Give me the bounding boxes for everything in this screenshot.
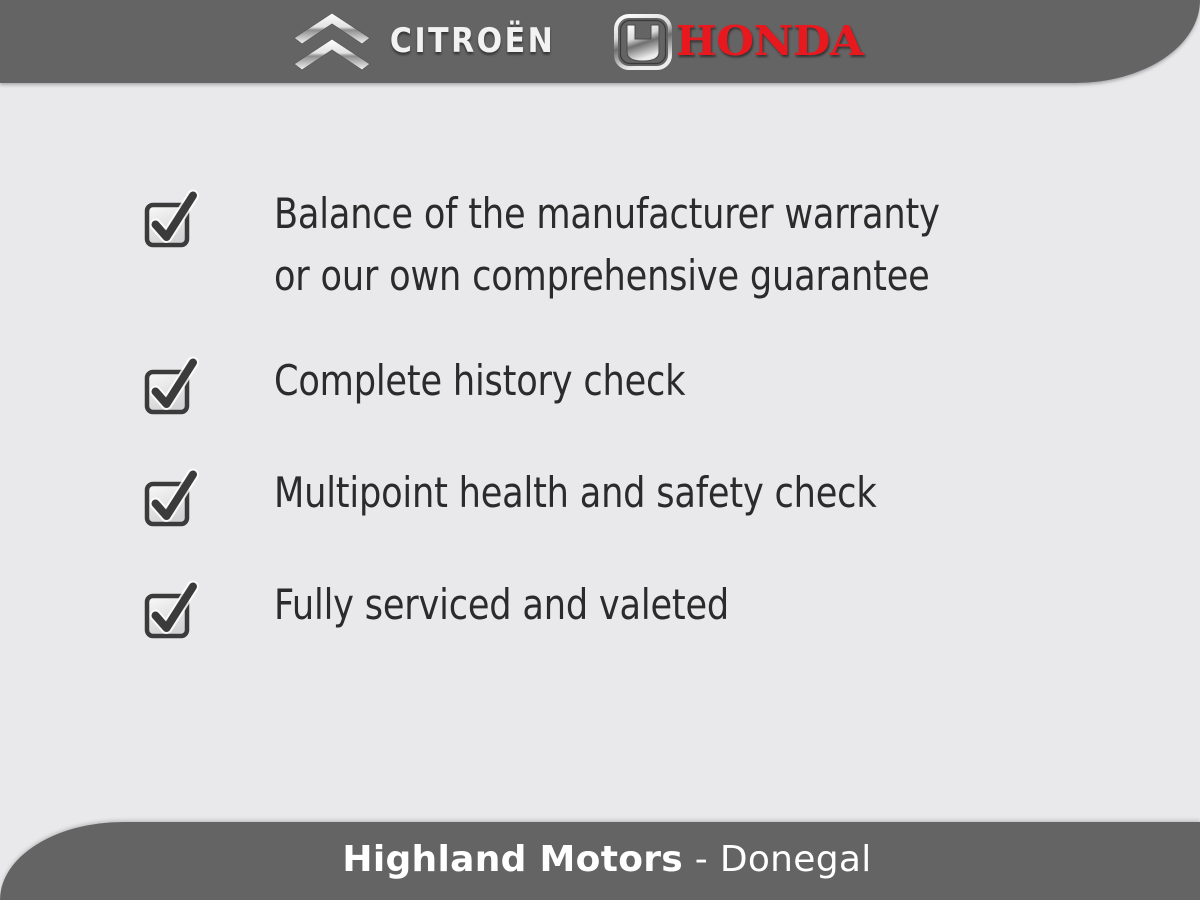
citroen-wordmark: CITROËN bbox=[390, 25, 555, 59]
honda-logo: HONDA bbox=[613, 9, 858, 75]
checkbox-checked-icon bbox=[140, 580, 202, 642]
honda-h-emblem-icon bbox=[613, 12, 673, 72]
checkbox-checked-icon bbox=[140, 356, 202, 418]
brand-logo-row: CITROËN HON bbox=[0, 0, 1150, 83]
list-item-label: Multipoint health and safety check bbox=[274, 462, 876, 524]
list-item-label: Balance of the manufacturer warranty or … bbox=[274, 183, 940, 306]
brand-header-bar: CITROËN HON bbox=[0, 0, 1200, 83]
list-item: Fully serviced and valeted bbox=[140, 574, 1140, 642]
list-item: Balance of the manufacturer warranty or … bbox=[140, 183, 1140, 306]
list-item-label: Fully serviced and valeted bbox=[274, 574, 729, 636]
dealer-separator: - bbox=[683, 839, 720, 880]
citroen-chevrons-icon bbox=[292, 11, 372, 73]
dealer-name: Highland Motors bbox=[342, 839, 683, 880]
checkbox-checked-icon bbox=[140, 468, 202, 530]
citroen-logo: CITROËN bbox=[292, 9, 555, 75]
checkbox-checked-icon bbox=[140, 189, 202, 251]
dealer-name-line: Highland Motors - Donegal bbox=[342, 842, 871, 878]
feature-list: Balance of the manufacturer warranty or … bbox=[140, 183, 1140, 642]
list-item-label: Complete history check bbox=[274, 350, 685, 412]
list-item: Multipoint health and safety check bbox=[140, 462, 1140, 530]
content-area: Balance of the manufacturer warranty or … bbox=[0, 83, 1200, 822]
dealer-footer-bar: Highland Motors - Donegal bbox=[0, 822, 1200, 900]
promo-banner: CITROËN HON bbox=[0, 0, 1200, 900]
dealer-location: Donegal bbox=[720, 839, 872, 880]
list-item: Complete history check bbox=[140, 350, 1140, 418]
honda-wordmark: HONDA bbox=[676, 21, 863, 62]
